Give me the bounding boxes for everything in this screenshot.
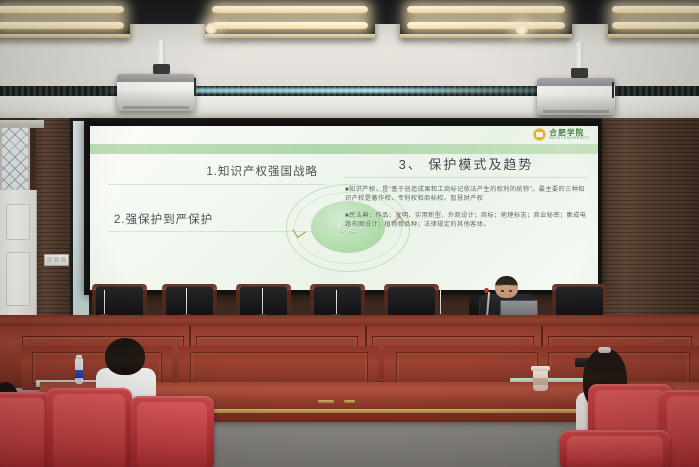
projector-cable-right [612, 82, 614, 98]
ceiling-light-1 [0, 0, 130, 38]
downlight-2 [513, 22, 530, 36]
audience-member-1-head [105, 338, 145, 375]
ceiling-light-2 [205, 0, 375, 38]
slide-heading-3: 3、 保护模式及趋势 [345, 154, 587, 178]
chair-6[interactable] [556, 286, 603, 316]
audience-member-3-hair-tie [598, 347, 611, 353]
desk-back-panel-2 [190, 352, 368, 384]
auditorium-seat-6[interactable] [560, 430, 670, 467]
auditorium-seat-2[interactable] [46, 388, 132, 467]
slide-accent-band [90, 144, 598, 154]
drink-cup-lid [531, 366, 550, 371]
slide-paragraph-2: ■民法典：作品；发明、实用新型、外观设计；商标；地理标志；商业秘密；集成电路布图… [345, 211, 587, 230]
logo-emblem-icon [533, 128, 546, 141]
downlight-1 [203, 22, 219, 35]
auditorium-seat-3[interactable] [130, 396, 214, 467]
chair-3[interactable] [240, 286, 287, 316]
projection-screen: 合肥学院 HEFEI UNIVERSITY 1.知识产权强国战略 2.强保护到严… [84, 119, 602, 295]
presenter-face [498, 285, 515, 298]
chair-5[interactable] [388, 286, 435, 316]
desk-cable-slot-2 [344, 400, 355, 403]
projector-rod-left [158, 40, 165, 66]
door-panel-upper [6, 204, 30, 240]
ceiling-light-4 [608, 0, 699, 38]
projector-rod-right [576, 42, 583, 70]
chair-2[interactable] [166, 286, 213, 316]
grilled-window [0, 126, 30, 192]
water-bottle-label [75, 370, 83, 378]
ceiling-light-3 [400, 0, 572, 38]
projector-mount-left [153, 64, 170, 74]
water-bottle-cap [76, 355, 82, 359]
lecture-hall-photo: 合肥学院 HEFEI UNIVERSITY 1.知识产权强国战略 2.强保护到严… [0, 0, 699, 467]
ceiling-projector-right [537, 78, 615, 115]
presenter-eye-right [509, 290, 512, 292]
university-logo: 合肥学院 HEFEI UNIVERSITY [533, 128, 590, 141]
slide-paragraph-1: ■知识产权，是"基于创造成果和工商标记依法产生的权利的统称"。最主要的三种知识产… [345, 185, 587, 204]
chair-4[interactable] [314, 286, 361, 316]
desk-equipment-box [469, 296, 479, 316]
logo-name-cn: 合肥学院 [549, 129, 590, 137]
projector-mount-right [571, 68, 588, 78]
auditorium-seat-1[interactable] [0, 392, 52, 467]
light-switch-panel[interactable] [44, 254, 69, 266]
slide-right-column: 3、 保护模式及趋势 ■知识产权，是"基于创造成果和工商标记依法产生的权利的统称… [345, 154, 587, 229]
presenter-microphone-head [484, 288, 489, 293]
door-panel-lower [6, 252, 30, 306]
ceiling-projector-left [117, 74, 195, 111]
presentation-slide: 合肥学院 HEFEI UNIVERSITY 1.知识产权强国战略 2.强保护到严… [90, 126, 598, 290]
presenter-eye-left [501, 290, 504, 292]
desk-cable-slot-1 [318, 400, 334, 403]
logo-name-en: HEFEI UNIVERSITY [549, 137, 590, 140]
projector-cable-left [194, 78, 196, 96]
drink-cup-band [533, 378, 548, 385]
